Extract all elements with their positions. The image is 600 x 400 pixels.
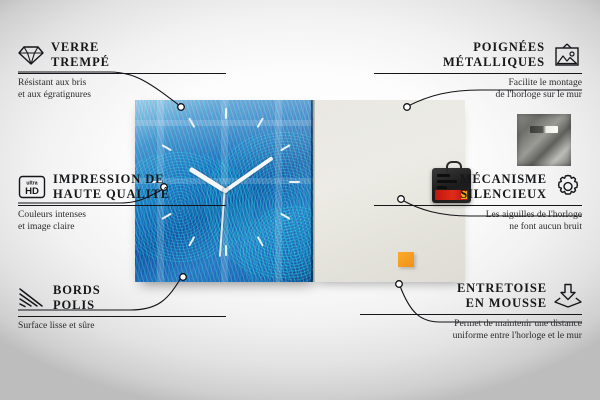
feature-title-row: ENTRETOISE EN MOUSSE bbox=[360, 281, 582, 311]
feature-divider bbox=[18, 205, 226, 206]
feature-title-row: VERRE TREMPÉ bbox=[18, 40, 226, 70]
feature-title-row: POIGNÉES MÉTALLIQUES bbox=[374, 40, 582, 70]
feature-mecanisme-silencieux: MÉCANISME SILENCIEUX Les aiguilles de l'… bbox=[374, 172, 582, 233]
hanger-plate bbox=[517, 114, 571, 166]
feature-description: Facilite le montage de l'horloge sur le … bbox=[374, 77, 582, 102]
glass-grid-line bbox=[135, 120, 315, 126]
feature-title: POIGNÉES MÉTALLIQUES bbox=[443, 40, 545, 70]
arrow-down-layers-icon bbox=[554, 283, 582, 309]
svg-text:HD: HD bbox=[25, 186, 39, 197]
feature-divider bbox=[18, 73, 226, 74]
infographic-canvas: VERRE TREMPÉ Résistant aux bris et aux é… bbox=[0, 0, 600, 400]
hour-marker bbox=[289, 181, 300, 183]
feature-title: BORDS POLIS bbox=[53, 283, 101, 313]
feature-verre-trempe: VERRE TREMPÉ Résistant aux bris et aux é… bbox=[18, 40, 226, 101]
gear-icon bbox=[554, 173, 582, 200]
mechanism-hanging-loop bbox=[446, 161, 462, 172]
feature-divider bbox=[374, 73, 582, 74]
ultra-hd-icon: ultra HD bbox=[18, 175, 46, 199]
feature-divider bbox=[360, 314, 582, 315]
feature-description: Résistant aux bris et aux égratignures bbox=[18, 77, 226, 102]
feature-title: MÉCANISME SILENCIEUX bbox=[460, 172, 547, 202]
foam-spacer bbox=[398, 252, 414, 267]
picture-frame-icon bbox=[552, 43, 582, 67]
feature-title: VERRE TREMPÉ bbox=[51, 40, 110, 70]
hour-marker bbox=[225, 245, 227, 256]
feature-divider bbox=[374, 205, 582, 206]
feature-description: Couleurs intenses et image claire bbox=[18, 209, 226, 234]
feature-entretoise-mousse: ENTRETOISE EN MOUSSE Permet de maintenir… bbox=[360, 281, 582, 342]
polished-edges-icon bbox=[18, 287, 46, 309]
hour-marker bbox=[225, 108, 227, 119]
feature-description: Les aiguilles de l'horloge ne font aucun… bbox=[374, 209, 582, 234]
feature-impression-hd: ultra HD IMPRESSION DE HAUTE QUALITÉ Cou… bbox=[18, 172, 226, 233]
feature-description: Permet de maintenir une distance uniform… bbox=[360, 318, 582, 343]
feature-divider bbox=[18, 316, 226, 317]
hanger-slot bbox=[530, 126, 558, 133]
feature-bords-polis: BORDS POLIS Surface lisse et sûre bbox=[18, 283, 226, 332]
feature-title-row: BORDS POLIS bbox=[18, 283, 226, 313]
panel-edge-shadow bbox=[311, 100, 315, 282]
feature-description: Surface lisse et sûre bbox=[18, 320, 226, 332]
diamond-icon bbox=[18, 44, 44, 66]
feature-title: ENTRETOISE EN MOUSSE bbox=[457, 281, 547, 311]
feature-poignees-metalliques: POIGNÉES MÉTALLIQUES Facilite le montage… bbox=[374, 40, 582, 101]
feature-title-row: ultra HD IMPRESSION DE HAUTE QUALITÉ bbox=[18, 172, 226, 202]
feature-title: IMPRESSION DE HAUTE QUALITÉ bbox=[53, 172, 170, 202]
feature-title-row: MÉCANISME SILENCIEUX bbox=[374, 172, 582, 202]
